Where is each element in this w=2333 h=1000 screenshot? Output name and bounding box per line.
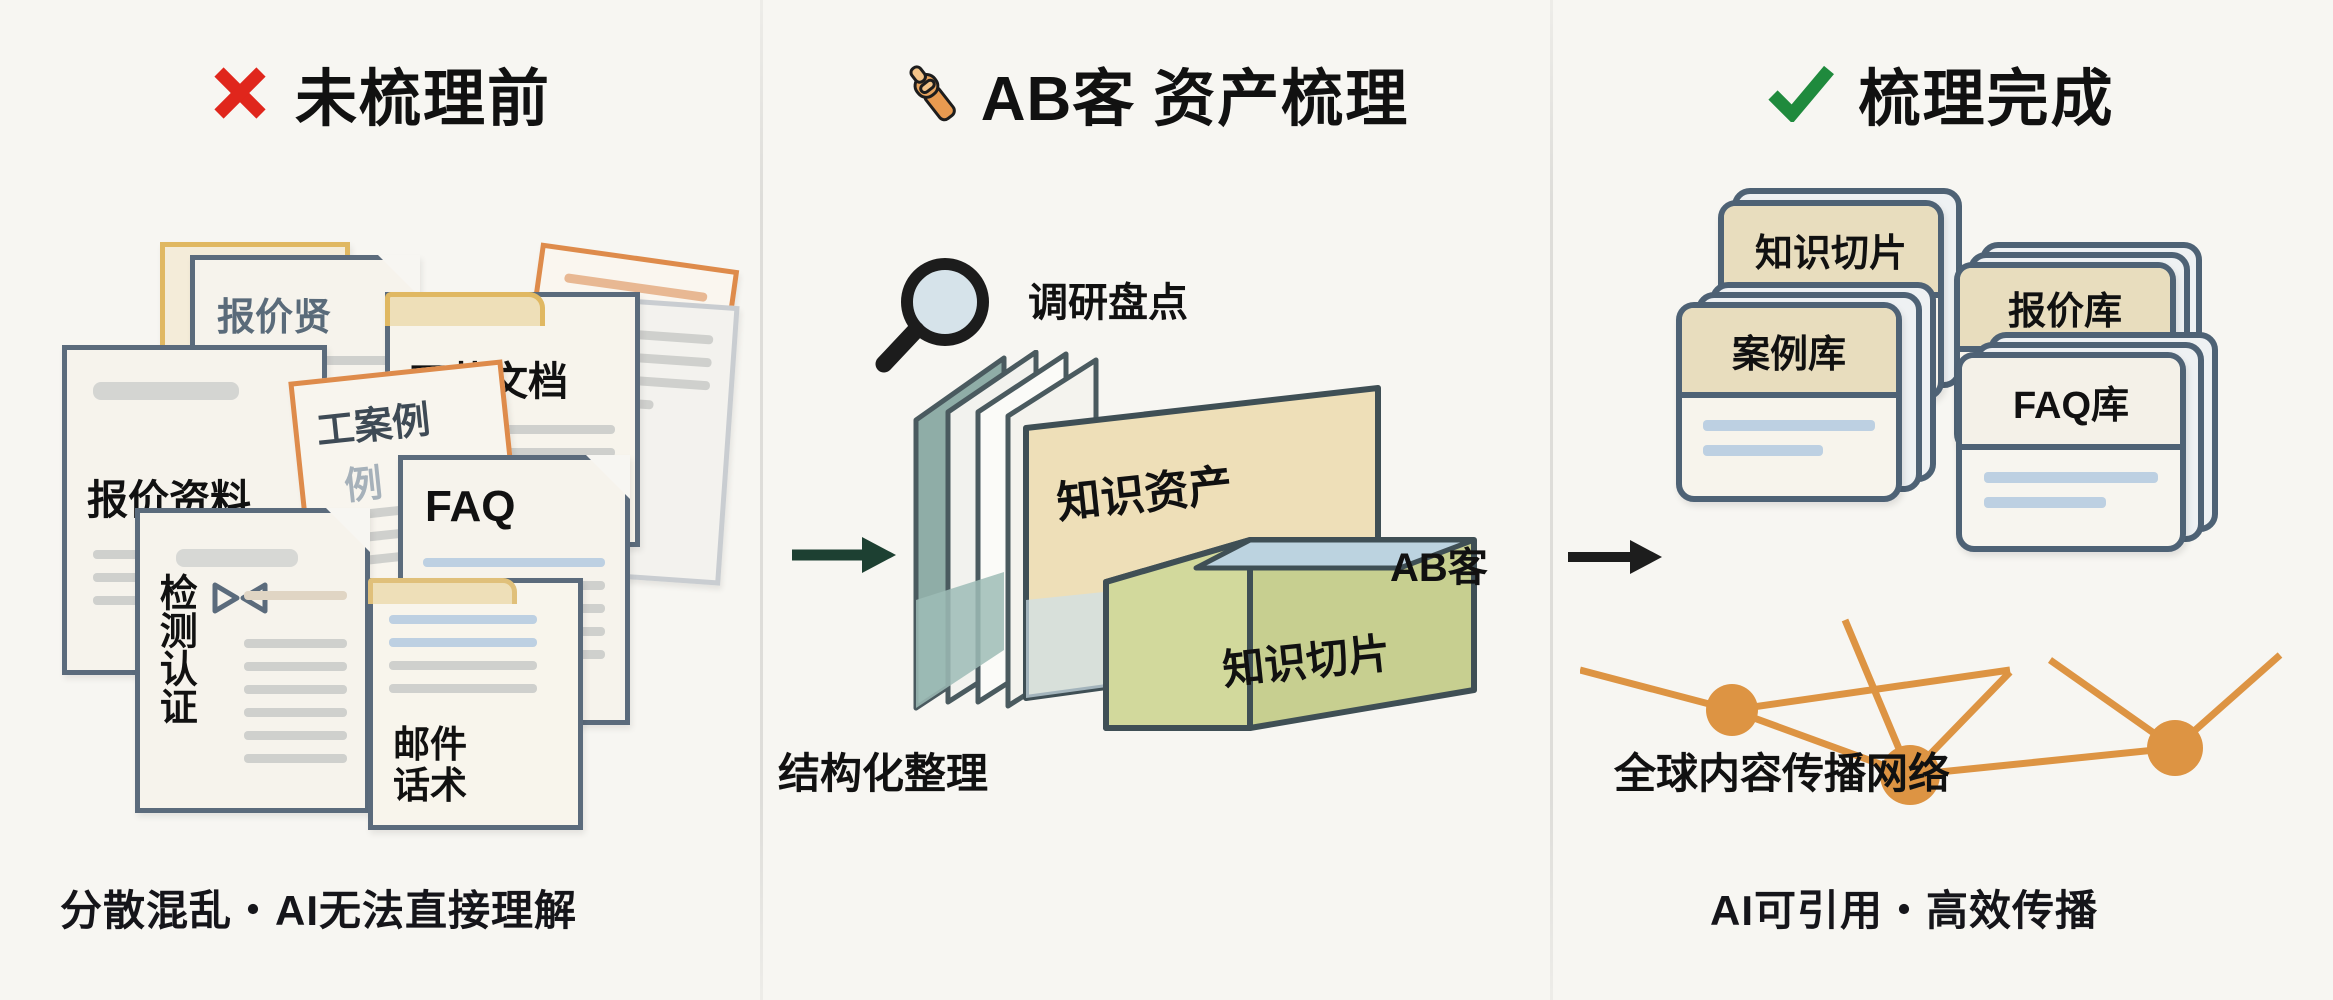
doc-card-youjianhuashu: 邮件话术	[368, 578, 583, 830]
doc-label: 邮件话术	[393, 725, 503, 806]
panel-before: 未梳理前 报价贤	[0, 0, 760, 1000]
doc-label: 报价贤	[217, 286, 331, 341]
cross-icon	[209, 62, 271, 124]
card-title: FAQ库	[1962, 358, 2180, 450]
doc-label-sub: 例	[341, 452, 385, 511]
middle-brand: AB客	[981, 48, 1136, 138]
card-case-library[interactable]: 案例库	[1676, 302, 1902, 502]
middle-title: 资产梳理	[1153, 48, 1409, 138]
left-header: 未梳理前	[0, 48, 760, 138]
panel-process: AB客 资产梳理 调研盘点	[760, 0, 1550, 1000]
brand-side-label: AB客	[1390, 535, 1488, 593]
flow-arrow-left	[788, 525, 898, 585]
content-network	[1580, 560, 2333, 860]
right-caption: AI可引用・高效传播	[1550, 877, 2333, 938]
doc-card-jianceranzheng: 检测认证	[135, 508, 370, 813]
infographic-board: 未梳理前 报价贤	[0, 0, 2333, 1000]
network-label: 全球内容传播网络	[1614, 740, 1950, 801]
pointing-hand-icon	[901, 59, 963, 127]
survey-label: 调研盘点	[1028, 270, 1188, 328]
doc-label: 工案例	[313, 388, 432, 455]
panel-after: 梳理完成 知识切片	[1550, 0, 2333, 1000]
doc-label: 检测认证	[154, 573, 194, 725]
network-node	[1706, 684, 1758, 736]
card-title: 案例库	[1682, 308, 1896, 398]
network-node	[2147, 720, 2203, 776]
middle-bottom-label: 结构化整理	[778, 740, 988, 801]
left-caption: 分散混乱・AI无法直接理解	[0, 877, 760, 938]
middle-header: AB客 资产梳理	[760, 48, 1550, 138]
card-faq-library[interactable]: FAQ库	[1956, 352, 2186, 552]
check-icon	[1768, 64, 1834, 122]
right-title: 梳理完成	[1858, 48, 2114, 138]
doc-label: FAQ	[425, 482, 515, 532]
left-title: 未梳理前	[295, 48, 551, 138]
right-header: 梳理完成	[1550, 48, 2333, 138]
